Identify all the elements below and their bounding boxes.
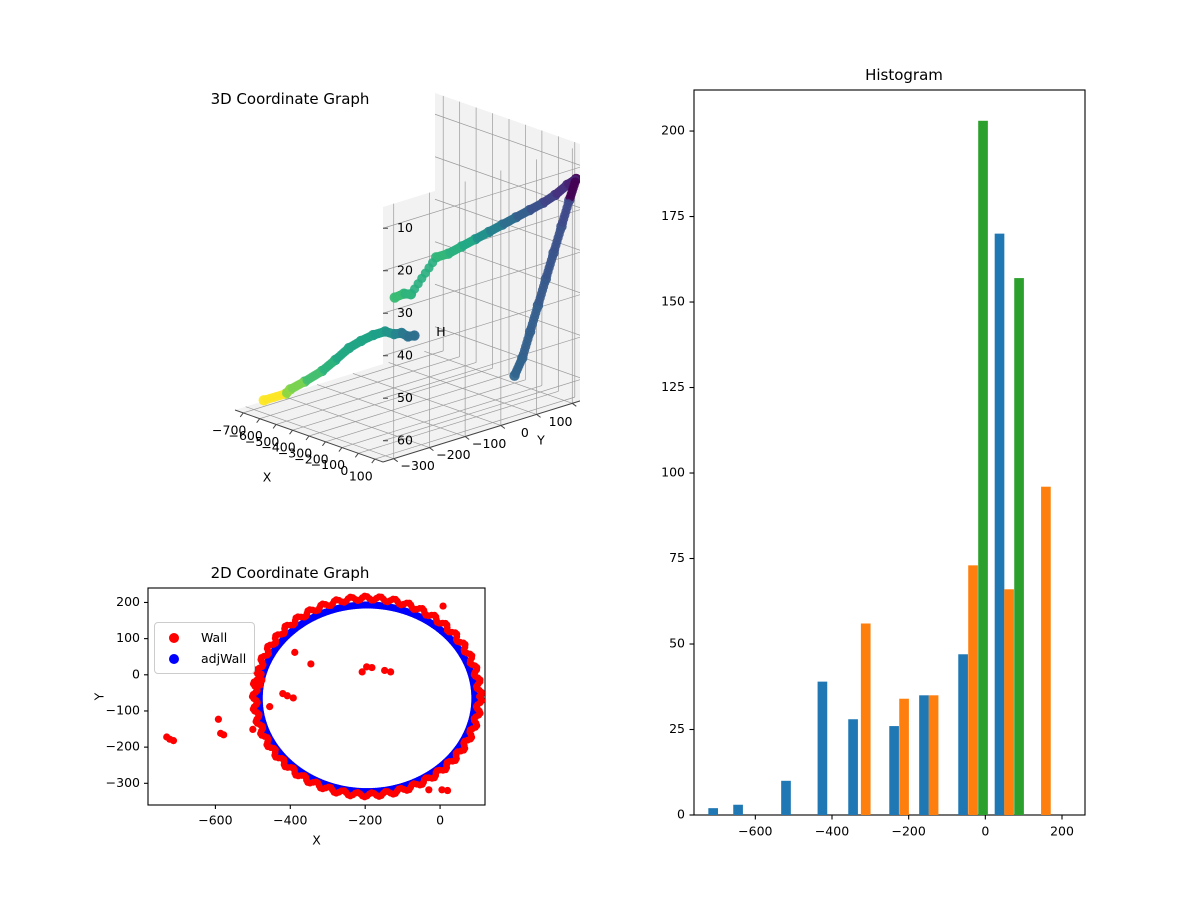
scatter-point-outlier [220,731,227,738]
scatter-point-3d [511,369,520,378]
plot-area-3d: −700−600−500−400−300−200−1000100X2001000… [60,80,580,530]
scatter-point-outlier [381,667,388,674]
plot-area-histogram: −600−400−20002000255075100125150175200 [660,60,1160,860]
x-tick-label: −200 [891,824,925,839]
histogram-bar [968,565,978,815]
x-tick-label: 0 [436,813,444,828]
histogram-bar [1041,487,1051,815]
z-tick-label-3d: 20 [397,262,413,277]
tick-mark [339,448,342,452]
y-tick-label-3d: 100 [549,414,573,429]
panel-3d-title: 3D Coordinate Graph [60,90,520,108]
tick-mark [322,442,325,446]
x-tick-label-3d: 100 [349,469,373,484]
histogram-bar [919,695,929,815]
y-tick-label: −300 [106,775,140,790]
tick-mark [465,437,469,440]
scatter-point-outlier [257,681,264,688]
scatter-point-outlier [266,703,273,710]
tick-mark [240,413,243,417]
scatter-point-outlier [290,694,297,701]
axis-label-y-2d: Y [92,692,107,701]
histogram-y-ticks: 0255075100125150175200 [661,123,694,822]
x-tick-label: 0 [981,824,989,839]
tick-mark [572,403,576,406]
scatter-point-outlier [249,726,256,733]
histogram-bar [978,121,988,815]
y-tick-label: 175 [661,208,685,223]
scatter-point-outlier [444,787,451,794]
histogram-bar [958,654,968,815]
histogram-bar [781,781,791,815]
axis-label-x-3d: X [263,470,272,485]
z-tick-label-3d: 30 [397,305,413,320]
histogram-bar [929,695,939,815]
y-tick-label: 100 [661,465,685,480]
panel-histogram-title: Histogram [694,66,1114,84]
x-tick-label: −600 [738,824,772,839]
legend-marker-wall-icon [169,633,179,643]
histogram-bar [899,699,909,815]
panel-histogram: Histogram −600−400−200020002550751001251… [660,60,1160,860]
histogram-bar [995,234,1005,815]
x-tick-label: 200 [1050,824,1074,839]
y-tick-label: 200 [116,594,140,609]
y-tick-label-3d: −100 [472,436,506,451]
scatter-point-outlier [425,786,432,793]
scatter-point [478,695,485,702]
tick-mark [501,425,505,428]
panel-2d-coordinate-graph: 2D Coordinate Graph −600−400−20002001000… [60,560,520,880]
histogram-bar [889,726,899,815]
y-tick-label: 50 [669,636,685,651]
z-tick-label-3d: 50 [397,390,413,405]
y-tick-label-3d: −200 [436,447,470,462]
y-tick-label: 200 [661,123,685,138]
legend-2d: WalladjWall [154,622,255,674]
scatter-point-3d [409,331,418,340]
tick-mark [273,424,276,428]
z-tick-label-3d: 60 [397,432,413,447]
y-tick-label: 25 [669,721,685,736]
plot-area-2d: −600−400−20002001000−100−200−300XY [60,560,520,880]
legend-entry: adjWall [163,648,246,669]
scatter-point-outlier [257,670,264,677]
histogram-bar [848,719,858,815]
tick-mark [372,459,375,463]
histogram-x-ticks: −600−400−2000200 [738,815,1074,839]
scatter-point-outlier [439,602,446,609]
x-tick-label: −600 [198,813,232,828]
tick-mark [306,436,309,440]
scatter-point-outlier [387,668,394,675]
y-tick-label: 100 [116,630,140,645]
scatter-point-outlier [215,716,222,723]
x-tick-label-3d: 0 [340,463,348,478]
tick-mark [257,419,260,423]
histogram-bar [818,682,828,815]
y-tick-label-3d: 0 [521,425,529,440]
panel-2d-title: 2D Coordinate Graph [60,564,520,582]
histogram-axes-frame [694,90,1085,815]
scatter-point-outlier [291,649,298,656]
panel-3d-coordinate-graph: 3D Coordinate Graph −700−600−500−400−300… [60,80,580,530]
tick-mark [537,414,541,417]
y-tick-label: 0 [132,666,140,681]
scatter-point-outlier [307,660,314,667]
legend-entry: Wall [163,627,246,648]
y-tick-label: 75 [669,550,685,565]
scatter-point-outlier [368,664,375,671]
histogram-bar [733,805,743,815]
y-tick-label: 0 [677,807,685,822]
y-tick-label: 150 [661,294,685,309]
axis-label-x-2d: X [312,833,321,848]
legend-label: adjWall [201,651,246,666]
y-tick-label-3d: −300 [401,458,435,473]
matplotlib-figure: 3D Coordinate Graph −700−600−500−400−300… [0,0,1200,900]
z-tick-label-3d: 40 [397,347,413,362]
axes3d-panes [235,93,580,462]
scatter-point-outlier [170,737,177,744]
x-tick-label: −200 [348,813,382,828]
axis-label-y-3d: Y [536,433,545,448]
histogram-bar [861,623,871,815]
z-tick-label-3d: 10 [397,220,413,235]
legend-marker-adjwall-icon [169,654,179,664]
y-tick-label: −200 [106,739,140,754]
tick-mark [355,453,358,457]
axis-label-h-3d: H [436,324,445,339]
x-ticks-2d: −600−400−2000 [198,805,444,828]
histogram-bar [1004,589,1014,815]
legend-label: Wall [201,630,227,645]
x-tick-label: −400 [815,824,849,839]
y-ticks-2d: 2001000−100−200−300 [106,594,148,790]
tick-mark [429,448,433,451]
y-tick-label: −100 [106,702,140,717]
histogram-bar [708,808,718,815]
tick-mark [290,430,293,434]
y-tick-label: 125 [661,379,685,394]
histogram-bar [1014,278,1024,815]
x-tick-label: −400 [273,813,307,828]
tick-mark [394,459,398,462]
